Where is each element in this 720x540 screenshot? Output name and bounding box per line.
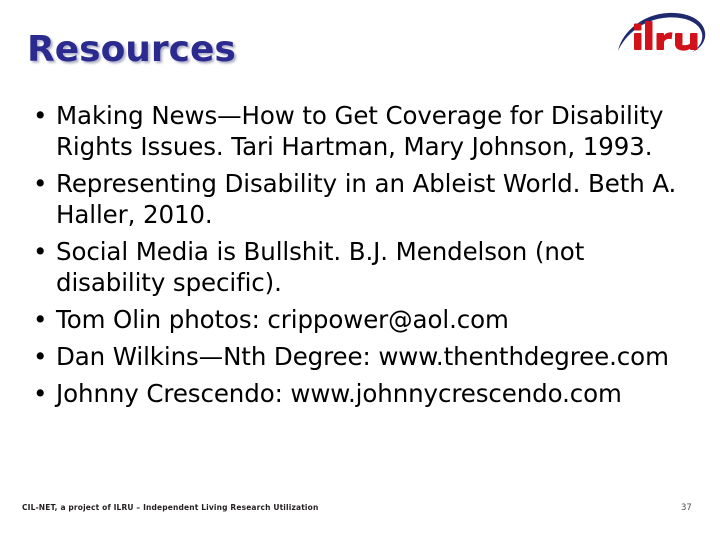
list-item: • Tom Olin photos: crippower@aol.com — [26, 304, 702, 335]
list-item-line: Rights Issues. Tari Hartman, Mary Johnso… — [56, 131, 702, 162]
footer-attribution: CIL-NET, a project of ILRU – Independent… — [22, 503, 318, 512]
ilru-logo — [612, 4, 716, 56]
list-item-line: Social Media is Bullshit. B.J. Mendelson… — [56, 236, 702, 267]
page-number: 37 — [681, 503, 692, 513]
bullet-marker-icon: • — [33, 378, 47, 409]
list-item-line: Johnny Crescendo: www.johnnycrescendo.co… — [56, 378, 702, 409]
list-item: • Making News—How to Get Coverage for Di… — [26, 100, 702, 162]
slide-canvas: Resources • Making News—How to Get Cover… — [0, 0, 720, 540]
list-item-line: Haller, 2010. — [56, 199, 702, 230]
list-item: • Dan Wilkins—Nth Degree: www.thenthdegr… — [26, 341, 702, 372]
list-item-line: Tom Olin photos: crippower@aol.com — [56, 304, 702, 335]
bullet-marker-icon: • — [33, 304, 47, 335]
bullet-marker-icon: • — [33, 236, 47, 267]
list-item-line: Dan Wilkins—Nth Degree: www.thenthdegree… — [56, 341, 702, 372]
list-item-line: Representing Disability in an Ableist Wo… — [56, 168, 702, 199]
list-item-line: Making News—How to Get Coverage for Disa… — [56, 100, 702, 131]
bullet-marker-icon: • — [33, 341, 47, 372]
bullet-marker-icon: • — [33, 168, 47, 199]
resources-list: • Making News—How to Get Coverage for Di… — [26, 100, 702, 409]
list-item: • Johnny Crescendo: www.johnnycrescendo.… — [26, 378, 702, 409]
bullet-marker-icon: • — [33, 100, 47, 131]
page-title: Resources — [27, 29, 236, 70]
list-item: • Social Media is Bullshit. B.J. Mendels… — [26, 236, 702, 298]
list-item: • Representing Disability in an Ableist … — [26, 168, 702, 230]
logo-wordmark — [634, 21, 698, 51]
list-item-line: disability specific). — [56, 267, 702, 298]
